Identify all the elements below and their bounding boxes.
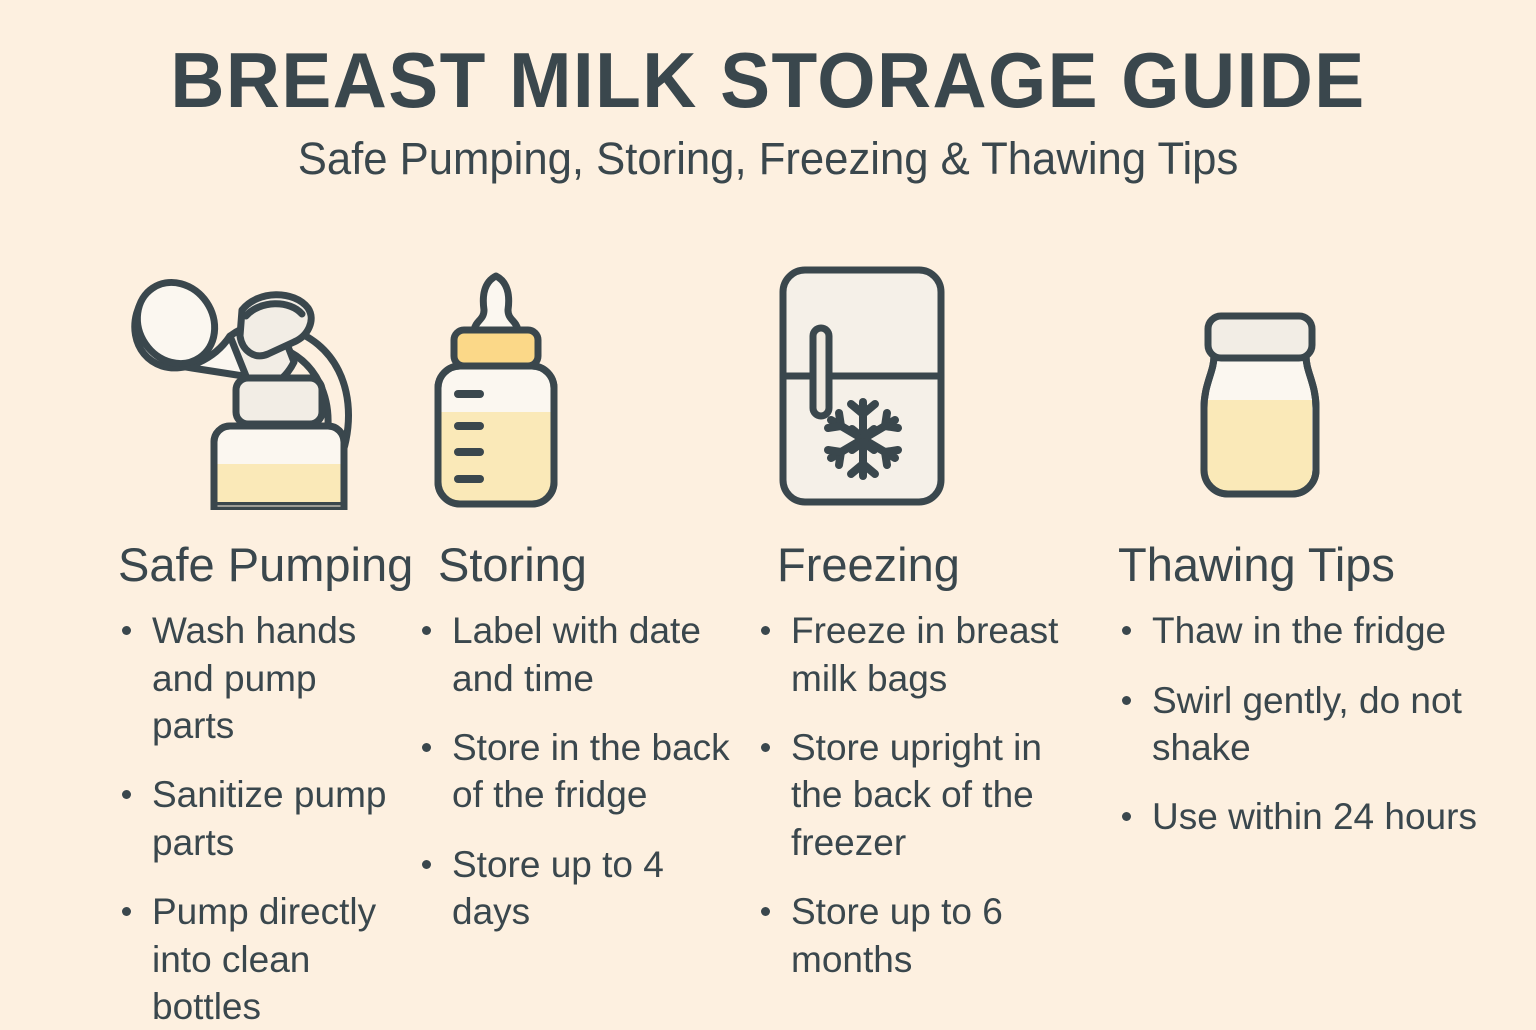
- list-item: Use within 24 hours: [1118, 793, 1482, 840]
- tips-list-safe-pumping: Wash hands and pump parts Sanitize pump …: [118, 607, 390, 1030]
- list-item: Pump directly into clean bottles: [118, 888, 390, 1030]
- column-heading-thawing-tips: Thawing Tips: [1118, 540, 1536, 589]
- list-item: Label with date and time: [418, 607, 735, 702]
- baby-bottle-icon: [426, 252, 566, 510]
- list-item: Store upright in the back of the freezer: [757, 724, 1090, 866]
- list-item: Thaw in the fridge: [1118, 607, 1482, 654]
- refrigerator-freezer-icon: [773, 262, 953, 510]
- list-item: Wash hands and pump parts: [118, 607, 390, 749]
- list-item: Sanitize pump parts: [118, 771, 390, 866]
- icon-container-safe-pumping: [118, 240, 390, 510]
- column-storing: Storing Label with date and time Store i…: [390, 240, 735, 1000]
- column-heading-safe-pumping: Safe Pumping: [118, 540, 390, 589]
- column-thawing-tips: Thawing Tips Thaw in the fridge Swirl ge…: [1090, 240, 1536, 1000]
- list-item: Store up to 4 days: [418, 841, 735, 936]
- list-item: Freeze in breast milk bags: [757, 607, 1090, 702]
- poster-header: BREAST MILK STORAGE GUIDE Safe Pumping, …: [0, 40, 1536, 183]
- list-item: Store up to 6 months: [757, 888, 1090, 983]
- tips-list-freezing: Freeze in breast milk bags Store upright…: [757, 607, 1090, 983]
- page-subtitle: Safe Pumping, Storing, Freezing & Thawin…: [23, 134, 1513, 184]
- list-item: Swirl gently, do not shake: [1118, 677, 1482, 772]
- tips-list-thawing-tips: Thaw in the fridge Swirl gently, do not …: [1118, 607, 1536, 840]
- content-columns: Safe Pumping Wash hands and pump parts S…: [0, 240, 1536, 1000]
- page-title: BREAST MILK STORAGE GUIDE: [31, 40, 1506, 122]
- infographic-poster: BREAST MILK STORAGE GUIDE Safe Pumping, …: [0, 0, 1536, 1024]
- milk-jar-icon: [1190, 300, 1330, 510]
- breast-pump-icon: [118, 250, 368, 510]
- list-item: Store in the back of the fridge: [418, 724, 735, 819]
- icon-container-thawing-tips: [1190, 240, 1536, 510]
- column-heading-storing: Storing: [438, 540, 735, 589]
- column-safe-pumping: Safe Pumping Wash hands and pump parts S…: [0, 240, 390, 1000]
- tips-list-storing: Label with date and time Store in the ba…: [418, 607, 735, 935]
- column-freezing: Freezing Freeze in breast milk bags Stor…: [735, 240, 1090, 1000]
- column-heading-freezing: Freezing: [777, 540, 1090, 589]
- icon-container-freezing: [773, 240, 1090, 510]
- icon-container-storing: [426, 240, 735, 510]
